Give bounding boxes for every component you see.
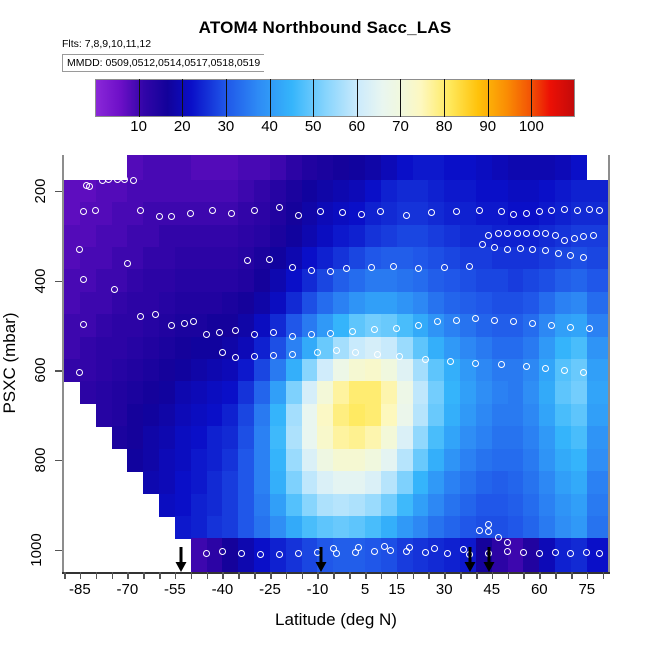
x-axis-minor-tick (397, 572, 399, 579)
heatmap-cell (317, 449, 333, 472)
heatmap-cell (476, 449, 492, 472)
colorbar-tick (400, 79, 401, 117)
heatmap-cell (381, 359, 397, 382)
heatmap-cell (64, 314, 80, 337)
heatmap-cell (159, 404, 175, 427)
heatmap-cell (112, 202, 128, 225)
sample-marker (453, 208, 460, 215)
heatmap-cell (523, 155, 539, 180)
heatmap-cell (159, 359, 175, 382)
heatmap-cell (333, 449, 349, 472)
sample-marker (390, 263, 397, 270)
sample-marker (80, 208, 87, 215)
heatmap-cell (127, 449, 143, 472)
heatmap-cell (381, 225, 397, 248)
sample-marker (533, 230, 540, 237)
heatmap-cell (571, 471, 587, 494)
heatmap-cell (381, 426, 397, 449)
heatmap-cell (302, 292, 318, 315)
heatmap-cell (64, 202, 80, 225)
profile-arrow (463, 547, 476, 573)
heatmap-cell (96, 247, 112, 270)
colorbar-tick-label: 70 (392, 118, 409, 135)
heatmap-cell (413, 155, 429, 180)
heatmap-cell (349, 381, 365, 404)
heatmap-cell (96, 359, 112, 382)
sample-marker (349, 328, 356, 335)
heatmap-cell (191, 225, 207, 248)
heatmap-cell (460, 202, 476, 225)
heatmap-cell (143, 381, 159, 404)
heatmap-cell (381, 449, 397, 472)
sample-marker (80, 276, 87, 283)
colorbar-tick-label: 90 (479, 118, 496, 135)
heatmap-cell (492, 381, 508, 404)
heatmap-cell (270, 381, 286, 404)
heatmap-cell (508, 404, 524, 427)
x-axis-tick-label: -70 (117, 581, 139, 598)
heatmap-cell (302, 359, 318, 382)
heatmap-cell (365, 538, 381, 572)
sample-marker (232, 354, 239, 361)
heatmap-cell (159, 155, 175, 180)
heatmap-cell (381, 471, 397, 494)
heatmap-cell (191, 471, 207, 494)
x-axis-minor-tick (254, 572, 256, 579)
heatmap-cell (317, 404, 333, 427)
heatmap-cell (96, 202, 112, 225)
heatmap-cell (460, 269, 476, 292)
heatmap-cell (143, 180, 159, 203)
heatmap-cell (222, 494, 238, 517)
sample-marker (270, 329, 277, 336)
heatmap-cell (302, 516, 318, 539)
heatmap-cell (555, 180, 571, 203)
x-axis-minor-tick (64, 572, 66, 579)
heatmap-cell (96, 404, 112, 427)
heatmap-cell (460, 449, 476, 472)
heatmap-cell (191, 494, 207, 517)
heatmap-cell (539, 516, 555, 539)
heatmap-cell (555, 516, 571, 539)
colorbar-tick-marks (95, 79, 575, 117)
sample-marker (504, 246, 511, 253)
heatmap-cell (143, 155, 159, 180)
x-axis-minor-tick (460, 572, 462, 579)
x-axis-minor-tick (96, 572, 98, 579)
sample-marker (238, 550, 245, 557)
heatmap-cell (365, 225, 381, 248)
y-axis-tick-label: 1000 (28, 533, 45, 566)
heatmap-cell (492, 180, 508, 203)
sample-marker (387, 547, 394, 554)
sample-marker (561, 367, 568, 374)
heatmap-cell (349, 269, 365, 292)
x-axis-minor-tick (143, 572, 145, 579)
heatmap-cell (191, 381, 207, 404)
x-axis-minor-tick (238, 572, 240, 579)
heatmap-cell (333, 404, 349, 427)
heatmap-cell (460, 337, 476, 360)
heatmap-cell (254, 381, 270, 404)
heatmap-cell (317, 337, 333, 360)
heatmap-cell (317, 225, 333, 248)
heatmap-cell (428, 180, 444, 203)
heatmap-cell (127, 359, 143, 382)
heatmap-cell (222, 538, 238, 572)
heatmap-cell (238, 359, 254, 382)
colorbar-tick-label: 80 (436, 118, 453, 135)
heatmap-cell (112, 225, 128, 248)
heatmap-cell (365, 516, 381, 539)
heatmap-cell (444, 449, 460, 472)
heatmap-cell (587, 269, 609, 292)
colorbar-tick-label: 40 (261, 118, 278, 135)
heatmap-cell (523, 180, 539, 203)
heatmap-cell (365, 359, 381, 382)
x-axis-minor-tick (317, 572, 319, 579)
x-axis-tick-label: -55 (164, 581, 186, 598)
heatmap-cell (286, 471, 302, 494)
heatmap-cell (460, 471, 476, 494)
heatmap-cell (238, 225, 254, 248)
heatmap-cell (476, 247, 492, 270)
heatmap-cell (238, 516, 254, 539)
heatmap-cell (270, 471, 286, 494)
mmdd-annotation: MMDD: 0509,0512,0514,0517,0518,0519 (62, 54, 264, 72)
heatmap-cell (175, 337, 191, 360)
sample-marker (403, 212, 410, 219)
heatmap-cell (397, 155, 413, 180)
heatmap-cell (571, 449, 587, 472)
plot-right-edge (608, 155, 610, 572)
heatmap-cell (523, 494, 539, 517)
heatmap-cell (207, 471, 223, 494)
heatmap-cell (238, 269, 254, 292)
heatmap-cell (270, 449, 286, 472)
sample-marker (542, 365, 549, 372)
heatmap-cell (492, 494, 508, 517)
heatmap-cell (317, 247, 333, 270)
heatmap-cell (492, 404, 508, 427)
colorbar-tick-label: 100 (519, 118, 544, 135)
heatmap-cell (286, 449, 302, 472)
sample-marker (219, 349, 226, 356)
heatmap-cell (476, 494, 492, 517)
profile-arrow (314, 547, 327, 573)
heatmap-cell (492, 155, 508, 180)
heatmap-cell (96, 337, 112, 360)
heatmap-cell (349, 180, 365, 203)
heatmap-cell (191, 359, 207, 382)
heatmap-cell (143, 269, 159, 292)
heatmap-cell (112, 404, 128, 427)
heatmap-cell (143, 404, 159, 427)
sample-marker (276, 551, 283, 558)
heatmap-cell (302, 202, 318, 225)
colorbar (95, 79, 575, 117)
heatmap-cell (460, 155, 476, 180)
sample-marker (80, 321, 87, 328)
heatmap-cell (333, 180, 349, 203)
heatmap-cell (222, 471, 238, 494)
heatmap-cell (508, 426, 524, 449)
heatmap-cell (317, 381, 333, 404)
heatmap-cell (238, 404, 254, 427)
heatmap-cell (238, 494, 254, 517)
heatmap-cell (333, 314, 349, 337)
heatmap-cell (365, 426, 381, 449)
heatmap-cell (428, 155, 444, 180)
sample-marker (561, 206, 568, 213)
heatmap-cell (555, 449, 571, 472)
heatmap-cell (222, 225, 238, 248)
heatmap-cell (476, 155, 492, 180)
heatmap-cell (222, 359, 238, 382)
sample-marker (327, 268, 334, 275)
heatmap-cell (254, 449, 270, 472)
heatmap-cell (555, 337, 571, 360)
heatmap-cell (112, 426, 128, 449)
x-axis-minor-tick (207, 572, 209, 579)
heatmap-cell (64, 337, 80, 360)
heatmap-cell (492, 471, 508, 494)
heatmap-cell (365, 404, 381, 427)
heatmap-cell (175, 155, 191, 180)
x-axis-tick-label: 15 (388, 581, 405, 598)
heatmap-cell (523, 337, 539, 360)
x-axis-minor-tick (112, 572, 114, 579)
heatmap-cell (476, 180, 492, 203)
sample-marker (232, 327, 239, 334)
sample-marker (447, 358, 454, 365)
heatmap-cell (397, 404, 413, 427)
heatmap-cell (397, 292, 413, 315)
heatmap-cell (476, 426, 492, 449)
heatmap-cell (317, 494, 333, 517)
heatmap-cell (127, 337, 143, 360)
heatmap-cell (413, 449, 429, 472)
x-axis-minor-tick (191, 572, 193, 579)
x-axis-tick-label: 30 (436, 581, 453, 598)
heatmap-cell (191, 180, 207, 203)
heatmap-cell (286, 381, 302, 404)
y-axis-title: PSXC (mbar) (0, 312, 20, 413)
heatmap-cell (222, 180, 238, 203)
heatmap-cell (460, 404, 476, 427)
heatmap-cell (286, 180, 302, 203)
sample-marker (352, 349, 359, 356)
heatmap-cell (159, 225, 175, 248)
heatmap-cell (80, 225, 96, 248)
heatmap-cell (492, 292, 508, 315)
sample-marker (343, 265, 350, 272)
heatmap-cell (159, 247, 175, 270)
heatmap-cell (508, 471, 524, 494)
heatmap-cell (349, 155, 365, 180)
heatmap-cell (96, 269, 112, 292)
sample-marker (130, 177, 137, 184)
heatmap-cell (381, 337, 397, 360)
heatmap-cell (254, 516, 270, 539)
sample-marker (381, 543, 388, 550)
heatmap-cell (64, 225, 80, 248)
heatmap-cell (523, 426, 539, 449)
heatmap-cell (175, 269, 191, 292)
heatmap-cell (175, 494, 191, 517)
heatmap-cell (413, 180, 429, 203)
heatmap-cell (444, 292, 460, 315)
flights-annotation: Flts: 7,8,9,10,11,12 (62, 38, 151, 50)
heatmap-cell (254, 180, 270, 203)
heatmap-cell (508, 359, 524, 382)
heatmap-cell (175, 449, 191, 472)
x-axis-minor-tick (428, 572, 430, 579)
heatmap-cell (254, 404, 270, 427)
heatmap-cell (460, 516, 476, 539)
heatmap-cell (571, 494, 587, 517)
x-axis-minor-tick (80, 572, 82, 579)
sample-marker (251, 353, 258, 360)
heatmap-cell (191, 247, 207, 270)
sample-marker (555, 250, 562, 257)
sample-marker (520, 549, 527, 556)
heatmap-cell (397, 471, 413, 494)
sample-marker (485, 521, 492, 528)
heatmap-cell (492, 449, 508, 472)
heatmap-cell (270, 225, 286, 248)
heatmap-cell (555, 269, 571, 292)
x-axis-minor-tick (476, 572, 478, 579)
heatmap-cell (397, 426, 413, 449)
sample-marker (596, 550, 603, 557)
x-axis-title: Latitude (deg N) (275, 610, 397, 630)
heatmap-cell (523, 471, 539, 494)
x-axis-minor-tick (349, 572, 351, 579)
heatmap-cell (317, 516, 333, 539)
sample-marker (476, 527, 483, 534)
sample-marker (308, 267, 315, 274)
heatmap-cell (444, 494, 460, 517)
heatmap-cell (365, 269, 381, 292)
x-axis-tick-label: 45 (483, 581, 500, 598)
heatmap-cell (523, 381, 539, 404)
heatmap-cell (587, 359, 609, 382)
y-axis-tick-label: 200 (32, 178, 49, 203)
heatmap-cell (587, 494, 609, 517)
heatmap-cell (270, 404, 286, 427)
heatmap-cell (539, 404, 555, 427)
x-axis-tick-label: -10 (307, 581, 329, 598)
x-axis-tick-label: -40 (212, 581, 234, 598)
heatmap-cell (508, 314, 524, 337)
heatmap-cell (365, 471, 381, 494)
heatmap-cell (254, 292, 270, 315)
heatmap-cell (222, 269, 238, 292)
x-axis-tick-label: 60 (531, 581, 548, 598)
heatmap-cell (207, 202, 223, 225)
heatmap-cell (112, 314, 128, 337)
x-axis-tick-label: 5 (361, 581, 369, 598)
sample-marker (590, 232, 597, 239)
sample-marker (203, 550, 210, 557)
colorbar-tick (139, 79, 140, 117)
x-axis-minor-tick (508, 572, 510, 579)
heatmap-cell (302, 426, 318, 449)
heatmap-cell (64, 180, 80, 203)
sample-marker (314, 349, 321, 356)
sample-marker (92, 207, 99, 214)
heatmap-cell (207, 381, 223, 404)
heatmap-cell (428, 292, 444, 315)
heatmap-cell (523, 449, 539, 472)
heatmap-cell (175, 225, 191, 248)
sample-marker (514, 230, 521, 237)
heatmap-cell (175, 471, 191, 494)
heatmap-cell (96, 225, 112, 248)
heatmap-cell (555, 494, 571, 517)
heatmap-cell (254, 494, 270, 517)
heatmap-cell (159, 337, 175, 360)
heatmap-cell (175, 426, 191, 449)
heatmap-cell (555, 426, 571, 449)
heatmap-cell (428, 225, 444, 248)
heatmap-cell (508, 180, 524, 203)
heatmap-cell (539, 292, 555, 315)
heatmap-cell (413, 426, 429, 449)
heatmap-cell (127, 426, 143, 449)
x-axis-minor-tick (270, 572, 272, 579)
colorbar-tick-labels: 102030405060708090100 (95, 118, 575, 138)
heatmap-cell (428, 381, 444, 404)
sample-marker (266, 256, 273, 263)
sample-marker (498, 208, 505, 215)
heatmap-cell (555, 471, 571, 494)
heatmap-cell (492, 269, 508, 292)
heatmap-cell (428, 359, 444, 382)
heatmap-cell (175, 359, 191, 382)
x-axis-minor-tick (413, 572, 415, 579)
sample-marker (374, 351, 381, 358)
heatmap-cell (238, 155, 254, 180)
heatmap-cell (175, 516, 191, 539)
heatmap-cell (302, 381, 318, 404)
heatmap-cell (539, 471, 555, 494)
heatmap-cell (333, 292, 349, 315)
heatmap-cell (96, 292, 112, 315)
sample-marker (574, 207, 581, 214)
sample-marker (422, 549, 429, 556)
heatmap-cell (207, 292, 223, 315)
sample-marker (552, 232, 559, 239)
heatmap-cell (571, 269, 587, 292)
heatmap-cell (333, 516, 349, 539)
heatmap-cell (64, 292, 80, 315)
x-axis-minor-tick (523, 572, 525, 579)
heatmap-cell (207, 155, 223, 180)
y-axis-tick (55, 191, 62, 193)
heatmap-cell (143, 247, 159, 270)
heatmap-cell (349, 359, 365, 382)
heatmap-cell (349, 471, 365, 494)
heatmap-cell (254, 225, 270, 248)
heatmap-cell (539, 449, 555, 472)
heatmap-cell (127, 292, 143, 315)
heatmap-cell (286, 494, 302, 517)
heatmap-cell (444, 381, 460, 404)
heatmap-cell (333, 426, 349, 449)
heatmap-cell (444, 337, 460, 360)
